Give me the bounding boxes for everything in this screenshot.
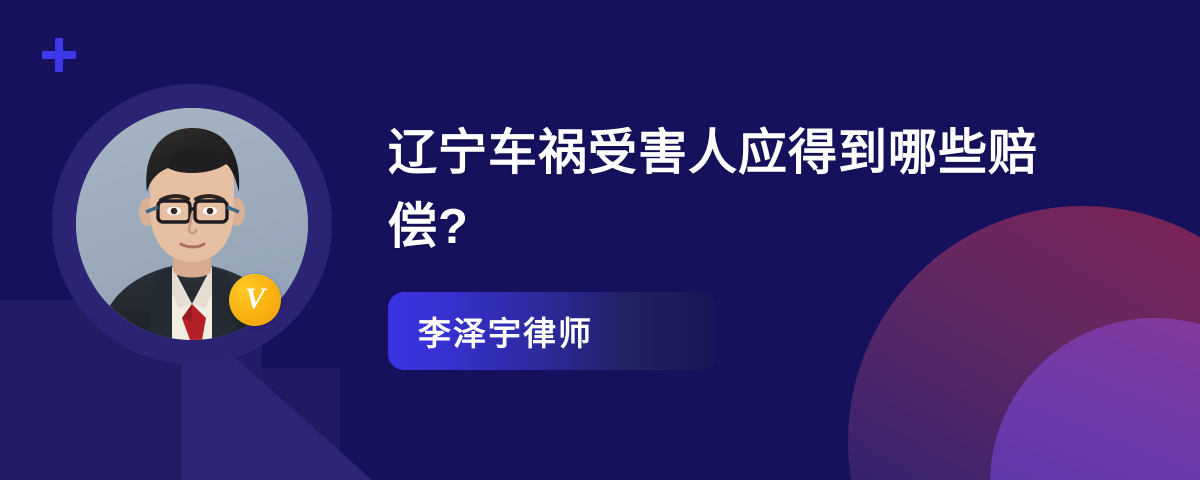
headline-title: 辽宁车祸受害人应得到哪些赔偿?: [388, 116, 1068, 264]
content-block: 辽宁车祸受害人应得到哪些赔偿? 李泽宇律师: [388, 116, 1088, 370]
avatar: V: [52, 84, 332, 364]
lawyer-qa-banner: V 辽宁车祸受害人应得到哪些赔偿? 李泽宇律师: [0, 0, 1200, 480]
lawyer-name-button[interactable]: 李泽宇律师: [388, 292, 716, 370]
verified-badge-glyph: V: [245, 284, 265, 314]
verified-badge-icon: V: [229, 274, 281, 326]
plus-icon: [42, 38, 76, 72]
